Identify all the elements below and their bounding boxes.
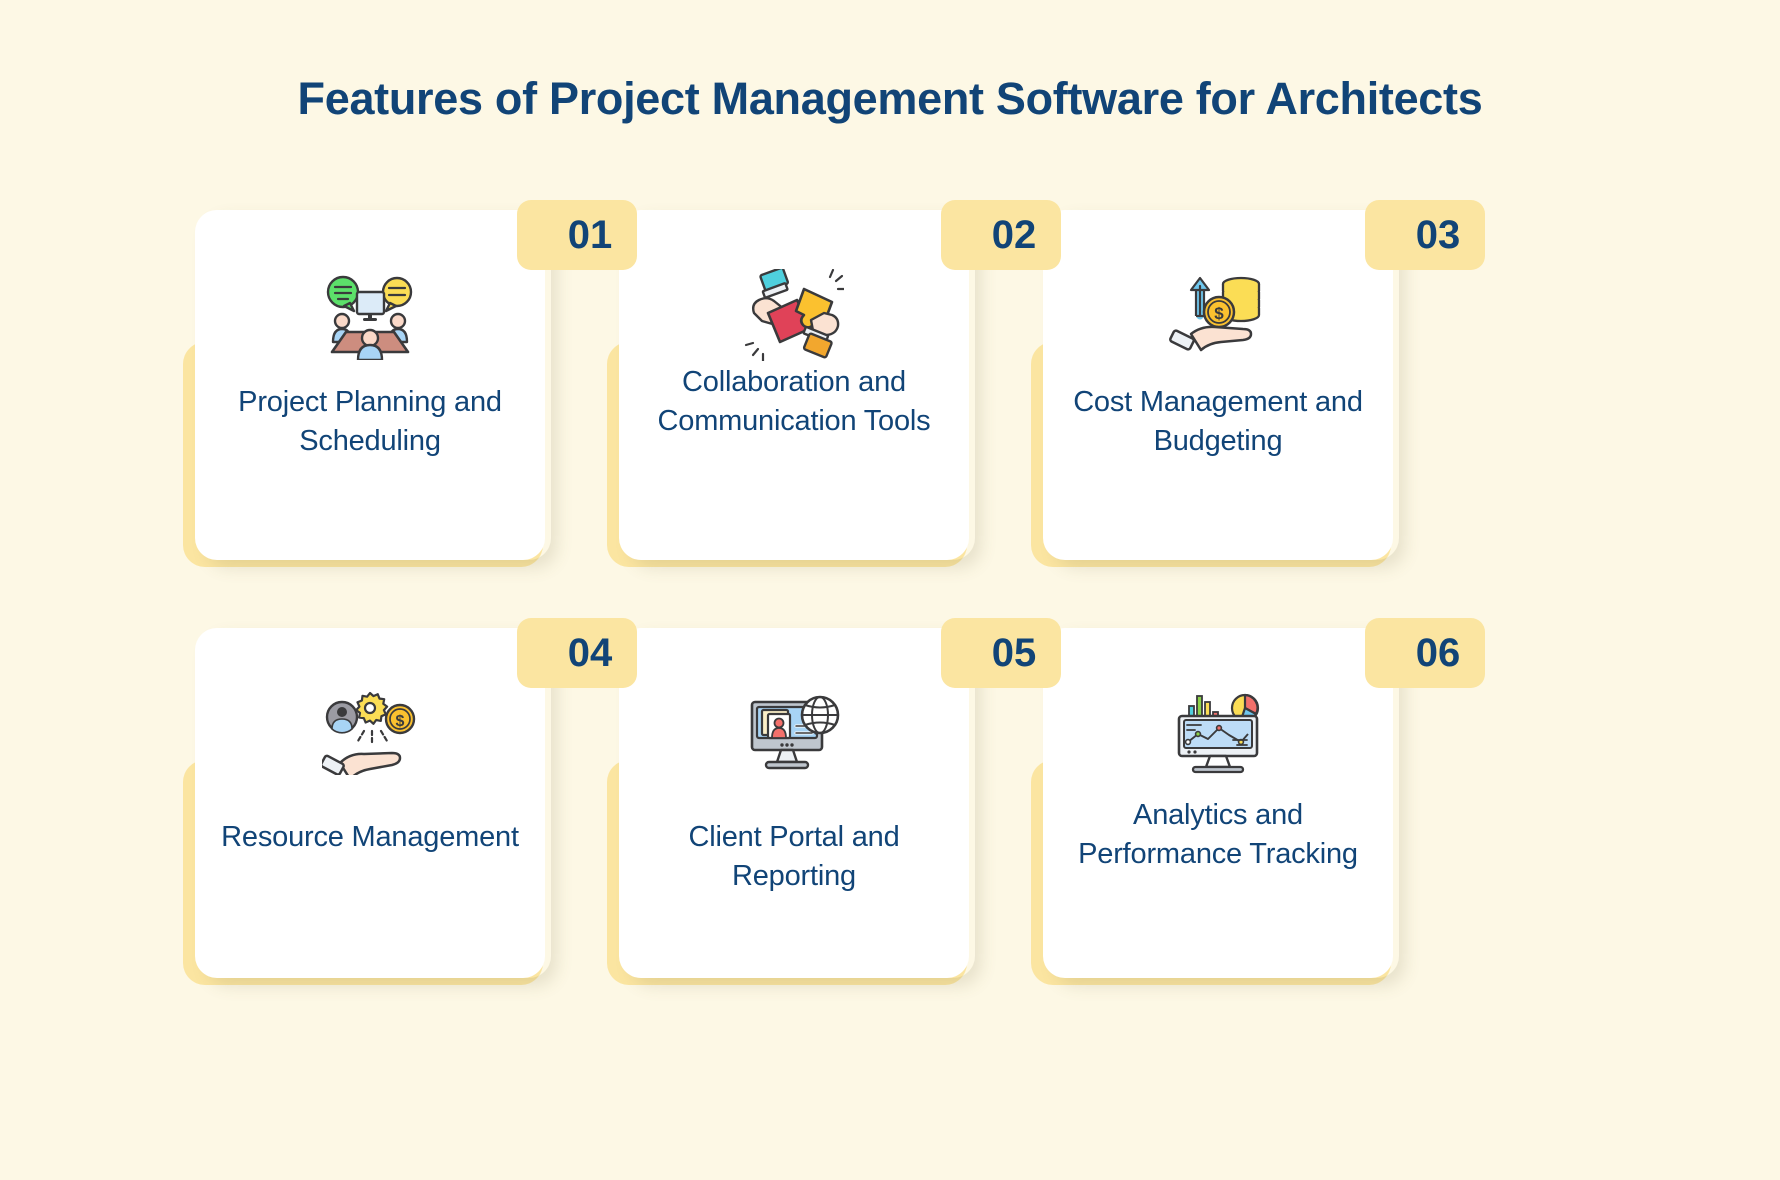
feature-card-3[interactable]: 03 xyxy=(1043,200,1458,555)
card-number-badge: 01 xyxy=(517,200,637,270)
card-number-badge: 06 xyxy=(1365,618,1485,688)
card-label: Collaboration and Communication Tools xyxy=(637,363,951,440)
card-number-badge: 02 xyxy=(941,200,1061,270)
card-label: Project Planning and Scheduling xyxy=(213,383,527,460)
card-number: 02 xyxy=(966,215,1037,255)
feature-card-6[interactable]: 06 xyxy=(1043,618,1458,973)
card-number-badge: 04 xyxy=(517,618,637,688)
card-number: 03 xyxy=(1390,215,1461,255)
card-label: Client Portal and Reporting xyxy=(637,818,951,895)
feature-cards-grid: 01 xyxy=(195,200,1595,973)
card-number-badge: 05 xyxy=(941,618,1061,688)
card-number: 04 xyxy=(542,633,613,673)
svg-text:$: $ xyxy=(1214,304,1224,323)
card-label: Cost Management and Budgeting xyxy=(1061,383,1375,460)
monitor-charts-analytics-icon xyxy=(1043,680,1393,785)
hand-coins-growth-icon: $ xyxy=(1043,262,1393,367)
card-label: Resource Management xyxy=(213,818,527,857)
hand-resources-gear-coin-icon: $ xyxy=(195,680,545,785)
card-number: 06 xyxy=(1390,633,1461,673)
card-number: 01 xyxy=(542,215,613,255)
hands-puzzle-pieces-icon xyxy=(619,262,969,367)
page-title-container: Features of Project Management Software … xyxy=(0,74,1780,124)
feature-card-4[interactable]: 04 $ xyxy=(195,618,610,973)
team-meeting-presentation-icon xyxy=(195,262,545,367)
card-label: Analytics and Performance Tracking xyxy=(1061,796,1375,873)
monitor-user-globe-icon xyxy=(619,680,969,785)
svg-text:$: $ xyxy=(396,713,405,730)
feature-card-5[interactable]: 05 xyxy=(619,618,1034,973)
feature-card-1[interactable]: 01 xyxy=(195,200,610,555)
feature-card-2[interactable]: 02 xyxy=(619,200,1034,555)
card-number: 05 xyxy=(966,633,1037,673)
infographic-page: Features of Project Management Software … xyxy=(0,0,1780,1180)
card-number-badge: 03 xyxy=(1365,200,1485,270)
page-title: Features of Project Management Software … xyxy=(298,74,1483,124)
